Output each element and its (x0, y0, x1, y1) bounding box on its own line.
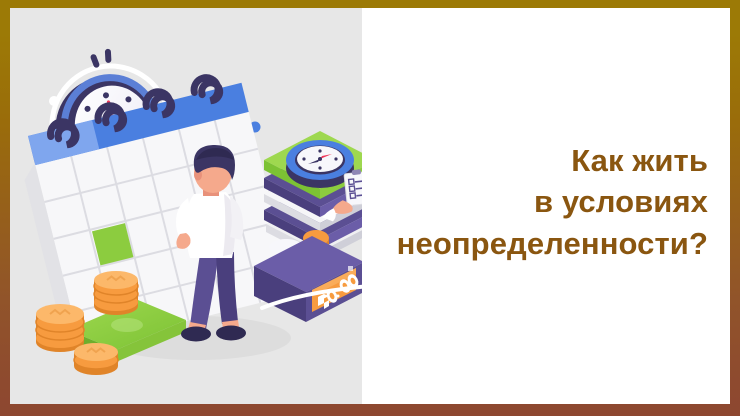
slide-banner: Как жить в условиях неопределенности? (0, 0, 740, 416)
illustration-panel (10, 8, 362, 404)
compass (286, 140, 354, 188)
headline-line-1: Как жить (397, 140, 708, 182)
person-shoe-front (216, 326, 246, 341)
headline-line-3: неопределенности? (397, 223, 708, 265)
page-title: Как жить в условиях неопределенности? (397, 140, 708, 265)
illustration-artwork (10, 8, 362, 404)
text-panel: Как жить в условиях неопределенности? (362, 8, 730, 404)
slide-canvas: Как жить в условиях неопределенности? (10, 8, 730, 404)
person-shoe-back (181, 327, 211, 342)
headline-line-2: в условиях (397, 181, 708, 223)
